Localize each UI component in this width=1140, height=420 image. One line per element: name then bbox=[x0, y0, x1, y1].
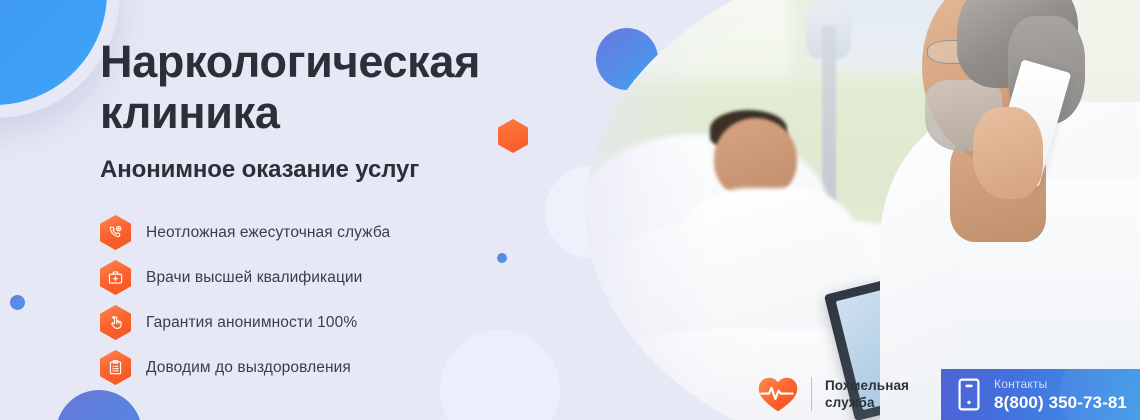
left-blue-dot bbox=[10, 295, 25, 310]
brand-logo[interactable]: Похмельная служба bbox=[757, 374, 909, 414]
logo-divider bbox=[811, 377, 812, 411]
logo-text-line2: служба bbox=[825, 395, 875, 410]
feature-label: Неотложная ежесуточная служба bbox=[146, 224, 390, 242]
banner-content: Наркологическая клиника Анонимное оказан… bbox=[100, 36, 570, 390]
feature-label: Гарантия анонимности 100% bbox=[146, 314, 357, 332]
page-title: Наркологическая клиника bbox=[100, 36, 570, 138]
contact-label: Контакты bbox=[994, 377, 1127, 392]
promo-banner: Наркологическая клиника Анонимное оказан… bbox=[0, 0, 1140, 420]
contact-box[interactable]: Контакты 8(800) 350-73-81 bbox=[941, 369, 1140, 420]
feature-item-full-recovery: Доводим до выздоровления bbox=[100, 345, 570, 390]
phone-call-icon bbox=[100, 215, 131, 250]
contact-phone-number[interactable]: 8(800) 350-73-81 bbox=[994, 392, 1127, 413]
feature-label: Доводим до выздоровления bbox=[146, 359, 351, 377]
logo-text: Похмельная служба bbox=[825, 377, 909, 411]
feature-item-emergency-service: Неотложная ежесуточная служба bbox=[100, 210, 570, 255]
heart-pulse-icon bbox=[757, 374, 799, 414]
logo-text-line1: Похмельная bbox=[825, 378, 909, 393]
page-subtitle: Анонимное оказание услуг bbox=[100, 155, 570, 184]
medical-bag-icon bbox=[100, 260, 131, 295]
feature-label: Врачи высшей квалификации bbox=[146, 269, 362, 287]
hand-tap-icon bbox=[100, 305, 131, 340]
bottom-left-blue-circle bbox=[56, 390, 142, 420]
feature-item-top-doctors: Врачи высшей квалификации bbox=[100, 255, 570, 300]
smartphone-icon bbox=[958, 378, 980, 411]
clipboard-checklist-icon bbox=[100, 350, 131, 385]
photo-left-fade bbox=[560, 0, 710, 420]
top-left-blue-circle bbox=[0, 0, 107, 105]
feature-list: Неотложная ежесуточная служба Врачи высш… bbox=[100, 210, 570, 390]
contact-texts: Контакты 8(800) 350-73-81 bbox=[994, 377, 1127, 413]
hero-photo bbox=[560, 0, 1140, 420]
feature-item-anonymity-guarantee: Гарантия анонимности 100% bbox=[100, 300, 570, 345]
hero-photo-image bbox=[560, 0, 1140, 420]
